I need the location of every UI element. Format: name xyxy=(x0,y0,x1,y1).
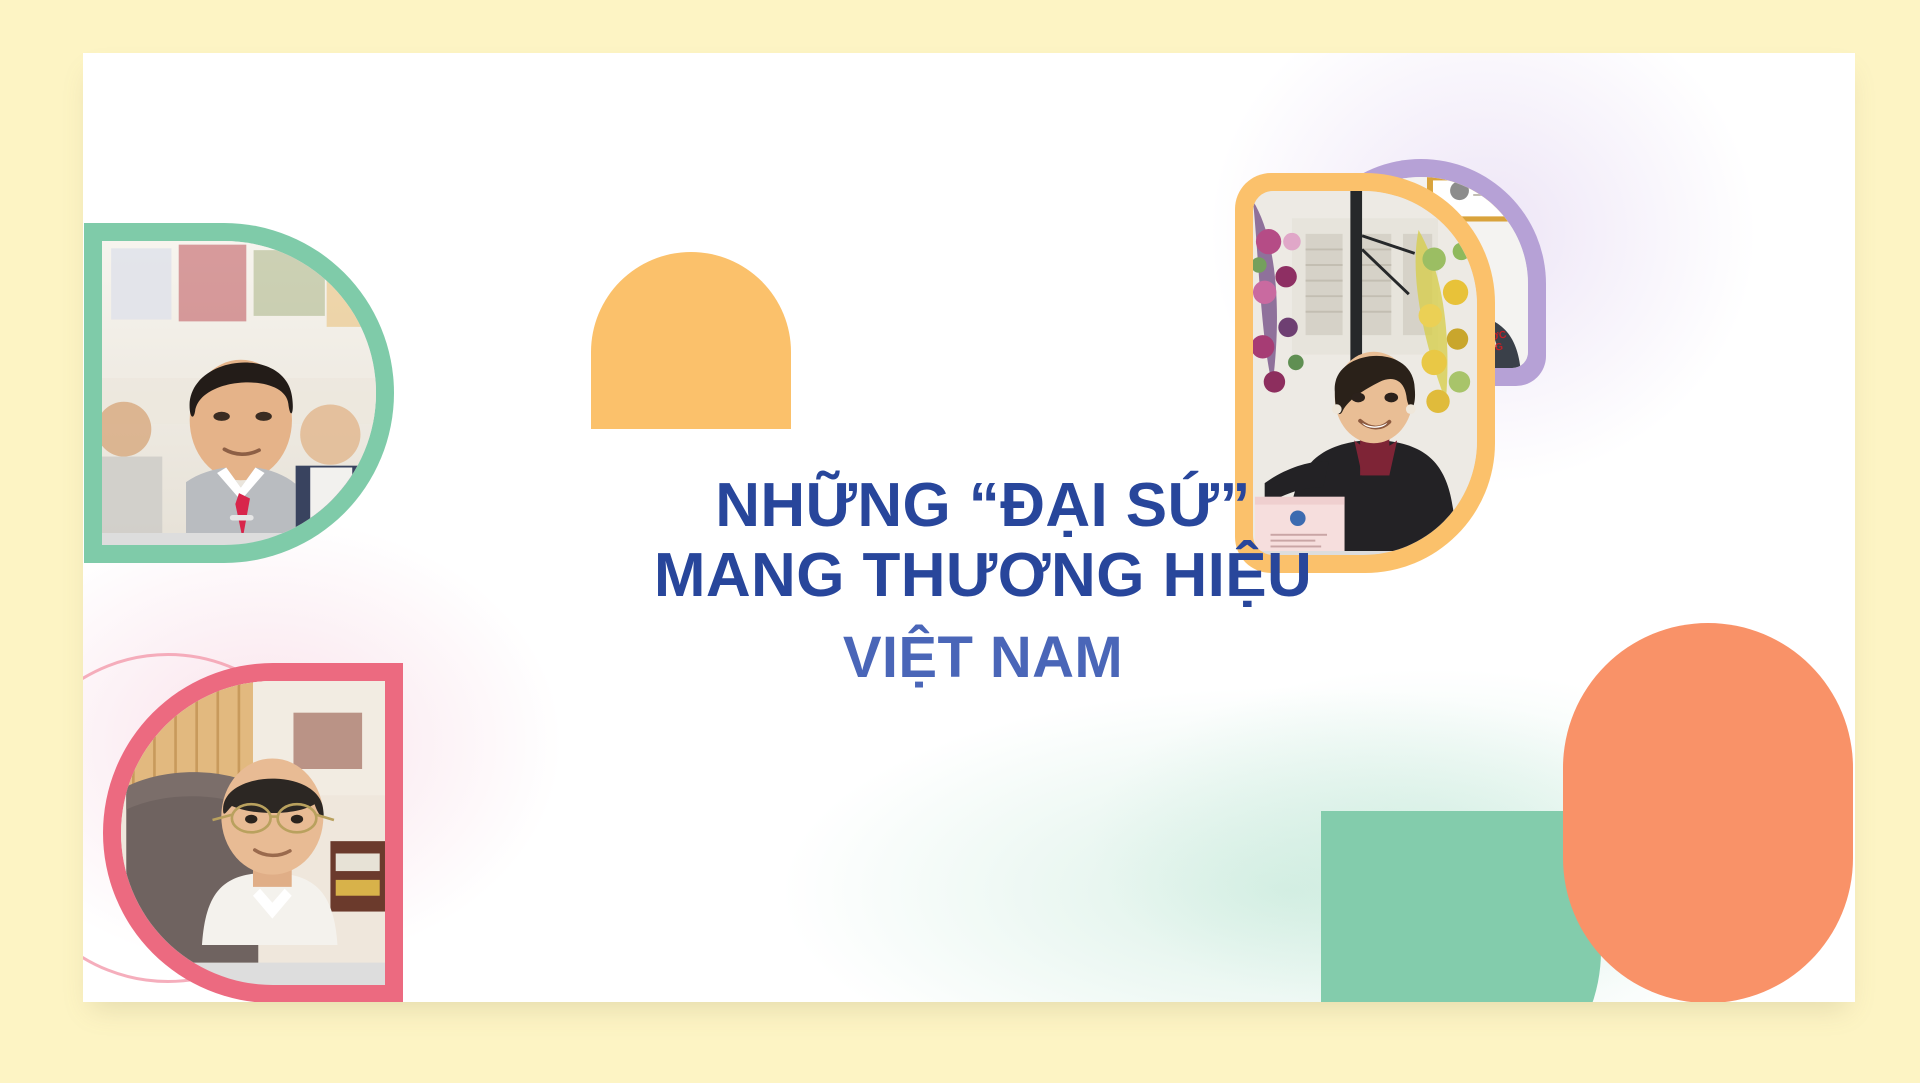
photo-art-older-man xyxy=(102,241,376,533)
green-quarter-round-decoration xyxy=(1321,811,1601,1002)
orange-arch-decoration xyxy=(591,252,791,429)
portrait-frame-pink xyxy=(103,663,403,1002)
poster-canvas: VỮNG BƯỚC CON ĐƯỜNG xyxy=(0,0,1920,1083)
title-line-3: VIỆT NAM xyxy=(503,625,1463,691)
poster-card: VỮNG BƯỚC CON ĐƯỜNG xyxy=(83,53,1855,1002)
portrait-frame-mint xyxy=(84,223,394,563)
title-line-1: NHỮNG “ĐẠI SỨ” xyxy=(503,471,1463,541)
portrait-photo-man-glasses xyxy=(121,681,385,985)
title-line-2: MANG THƯƠNG HIỆU xyxy=(503,541,1463,611)
portrait-photo-older-man xyxy=(102,241,376,545)
page-title: NHỮNG “ĐẠI SỨ” MANG THƯƠNG HIỆU VIỆT NAM xyxy=(503,471,1463,691)
salmon-pill-decoration xyxy=(1563,623,1853,1002)
photo-art-man-glasses xyxy=(121,681,385,963)
